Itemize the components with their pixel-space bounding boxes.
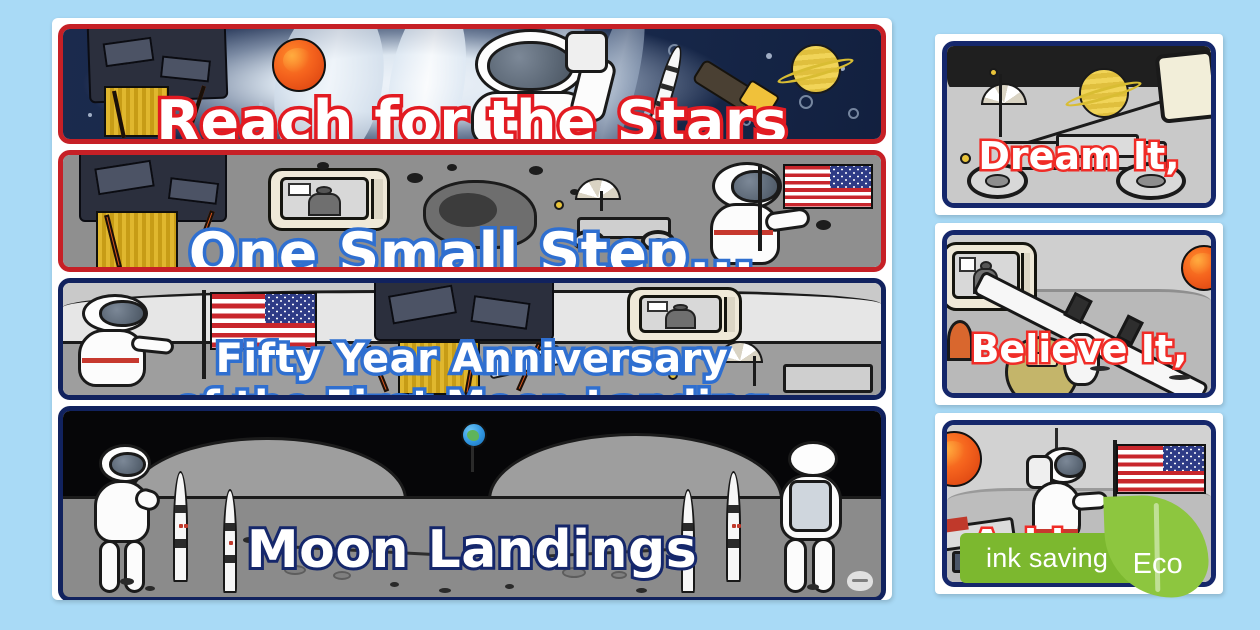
poster-title-believe-it: Believe It, [947, 327, 1211, 371]
banner-scene-lunar-white: Fifty Year Anniversary of the First Moon… [63, 283, 881, 395]
banner-title-moon-landings: Moon Landings [63, 520, 881, 580]
banner-moon-landings[interactable]: Moon Landings [58, 406, 886, 600]
banner-scene-moonscape: Moon Landings [63, 411, 881, 597]
banner-one-small-step[interactable]: One Small Step... [58, 150, 886, 272]
banner-reach-for-the-stars[interactable]: Reach for the Stars [58, 24, 886, 144]
poster-scene-rover-saturn: Dream It, [942, 41, 1216, 208]
poster-card-dream-it[interactable]: Dream It, [935, 34, 1223, 215]
banner-title-reach-for-the-stars: Reach for the Stars [63, 89, 881, 139]
poster-card-believe-it[interactable]: Believe It, [935, 223, 1223, 404]
banner-scene-lunar-grey: One Small Step... [63, 155, 881, 267]
banner-title-fifty-year-anniversary-line1: Fifty Year Anniversary [63, 336, 881, 382]
banner-title-fifty-year-anniversary-line2: of the First Moon Landing [63, 383, 881, 395]
poster-scene-rocket-tv-mars: Believe It, [942, 230, 1216, 397]
ink-saving-eco-badge: ink saving Eco [960, 533, 1208, 583]
eco-label: Eco [1132, 548, 1182, 581]
twinkl-watermark [847, 571, 873, 591]
banner-scene-deep-space: Reach for the Stars [63, 29, 881, 139]
ink-saving-label: ink saving [986, 543, 1108, 574]
banner-fifty-year-anniversary[interactable]: Fifty Year Anniversary of the First Moon… [58, 278, 886, 400]
poster-title-dream-it: Dream It, [947, 134, 1211, 178]
banner-sheet: Reach for the Stars [52, 18, 892, 600]
banner-title-one-small-step: One Small Step... [63, 221, 881, 267]
